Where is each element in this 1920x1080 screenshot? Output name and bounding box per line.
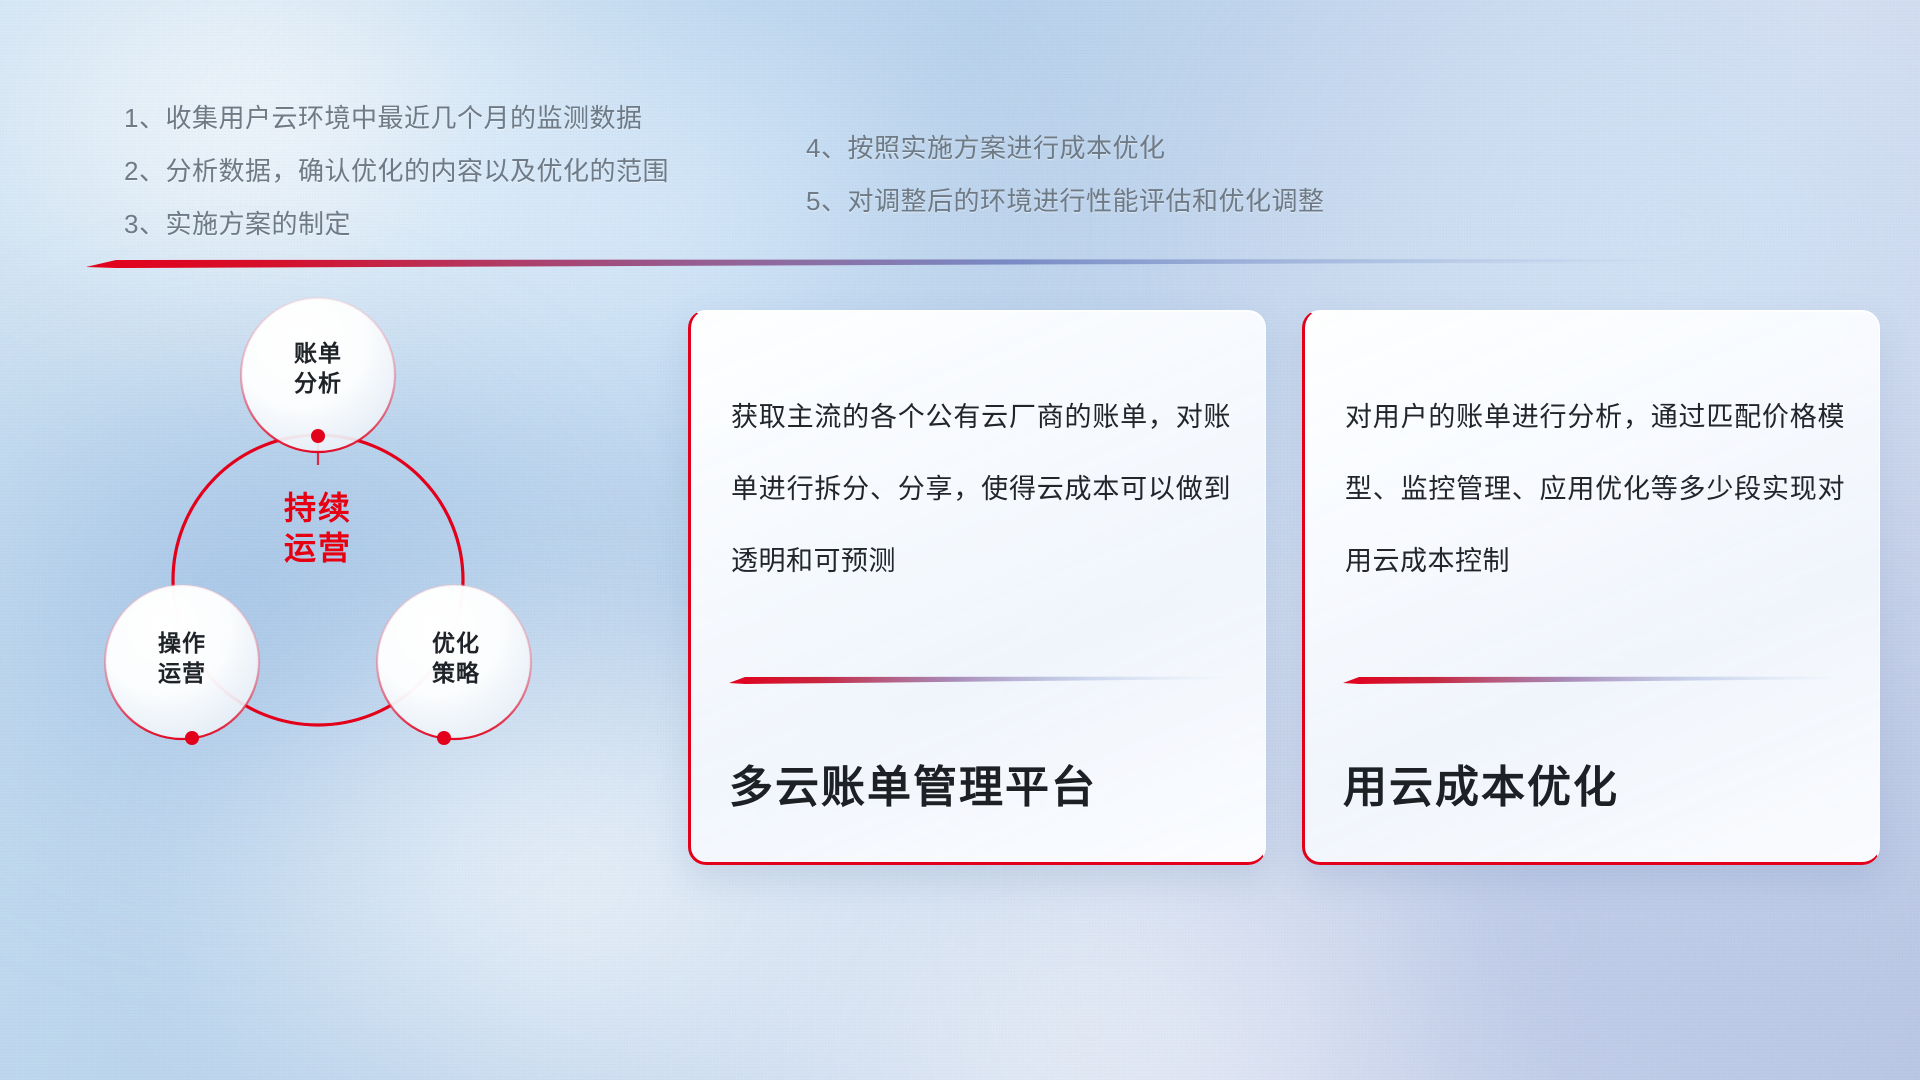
- venn-center-line2: 运营: [228, 528, 408, 568]
- step-item: 4、按照实施方案进行成本优化: [806, 122, 1324, 175]
- card-divider: [729, 671, 1229, 680]
- info-card-cloud-cost-optimization[interactable]: 对用户的账单进行分析，通过匹配价格模型、监控管理、应用优化等多少段实现对用云成本…: [1302, 310, 1880, 865]
- venn-center-label: 持续 运营: [228, 488, 408, 568]
- venn-label-bl-line1: 操作: [106, 628, 258, 658]
- venn-dot-top: [311, 429, 325, 443]
- venn-label-bottom-left: 操作 运营: [106, 628, 258, 688]
- venn-label-top-line2: 分析: [242, 368, 394, 398]
- card-divider: [1343, 671, 1843, 680]
- venn-center-line1: 持续: [228, 488, 408, 528]
- venn-dot-bottom-right: [437, 731, 451, 745]
- venn-diagram: 账单 分析 操作 运营 优化 策略 持续 运营: [78, 290, 558, 770]
- slide-content: 1、收集用户云环境中最近几个月的监测数据 2、分析数据，确认优化的内容以及优化的…: [0, 0, 1920, 1080]
- venn-label-br-line1: 优化: [380, 628, 532, 658]
- venn-dot-bottom-left: [185, 731, 199, 745]
- step-list-left: 1、收集用户云环境中最近几个月的监测数据 2、分析数据，确认优化的内容以及优化的…: [124, 92, 669, 251]
- venn-label-bottom-right: 优化 策略: [380, 628, 532, 688]
- card-body-text: 获取主流的各个公有云厂商的账单，对账单进行拆分、分享，使得云成本可以做到透明和可…: [731, 381, 1231, 597]
- venn-label-top-line1: 账单: [242, 338, 394, 368]
- venn-label-top: 账单 分析: [242, 338, 394, 398]
- step-item: 2、分析数据，确认优化的内容以及优化的范围: [124, 145, 669, 198]
- card-body-text: 对用户的账单进行分析，通过匹配价格模型、监控管理、应用优化等多少段实现对用云成本…: [1345, 381, 1845, 597]
- card-title: 用云成本优化: [1343, 751, 1619, 815]
- step-list-right: 4、按照实施方案进行成本优化 5、对调整后的环境进行性能评估和优化调整: [806, 122, 1324, 228]
- step-item: 3、实施方案的制定: [124, 198, 669, 251]
- venn-label-bl-line2: 运营: [106, 658, 258, 688]
- info-card-multicloud-billing[interactable]: 获取主流的各个公有云厂商的账单，对账单进行拆分、分享，使得云成本可以做到透明和可…: [688, 310, 1266, 865]
- card-title: 多云账单管理平台: [729, 751, 1097, 815]
- step-item: 1、收集用户云环境中最近几个月的监测数据: [124, 92, 669, 145]
- step-item: 5、对调整后的环境进行性能评估和优化调整: [806, 175, 1324, 228]
- venn-label-br-line2: 策略: [380, 658, 532, 688]
- section-divider: [86, 256, 1686, 268]
